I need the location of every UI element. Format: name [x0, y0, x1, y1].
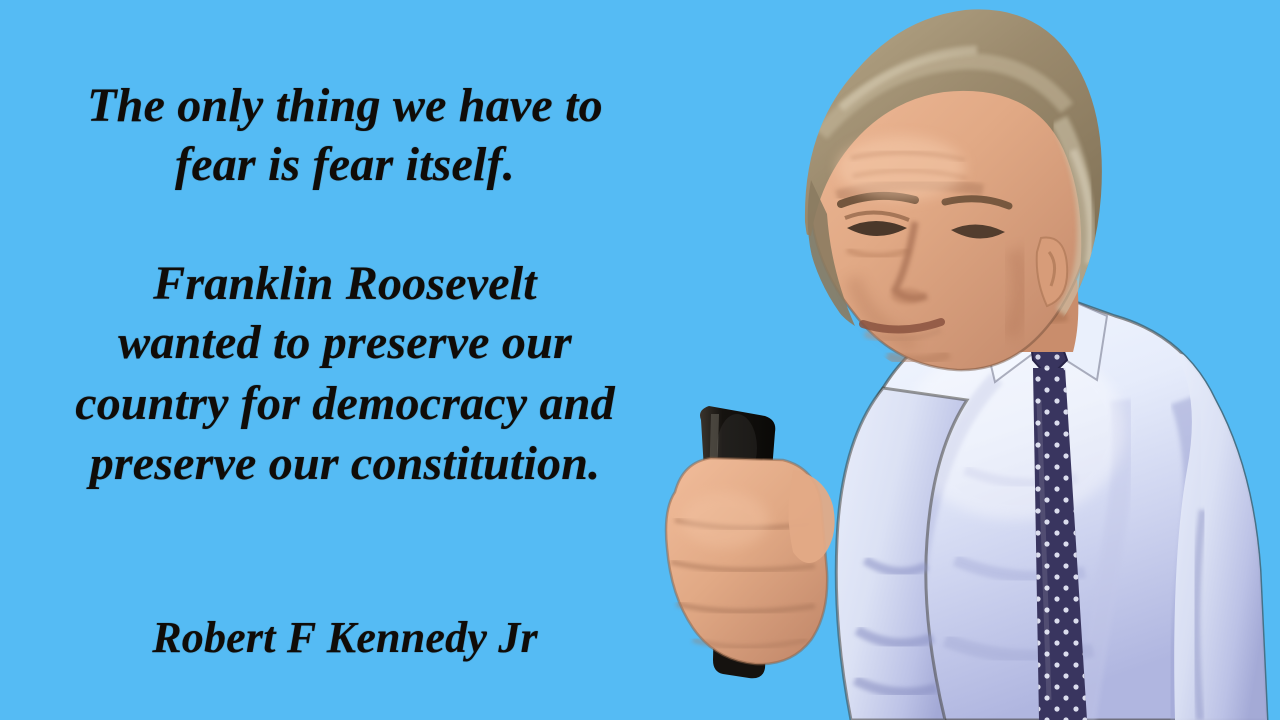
speaker-photo-cutout	[615, 0, 1280, 720]
secondary-quote-line-4: preserve our constitution.	[0, 436, 690, 491]
secondary-quote-line-1: Franklin Roosevelt	[0, 256, 690, 311]
quote-line-2: fear is fear itself.	[0, 137, 690, 192]
secondary-quote-line-3: country for democracy and	[0, 376, 690, 431]
quote-line-1: The only thing we have to	[0, 78, 690, 133]
quote-attribution: Robert F Kennedy Jr	[0, 612, 690, 663]
secondary-quote-line-2: wanted to preserve our	[0, 315, 690, 370]
quote-graphic-canvas: The only thing we have to fear is fear i…	[0, 0, 1280, 720]
quote-text-block: The only thing we have to fear is fear i…	[0, 0, 690, 720]
hand-holding-microphone	[666, 458, 835, 664]
